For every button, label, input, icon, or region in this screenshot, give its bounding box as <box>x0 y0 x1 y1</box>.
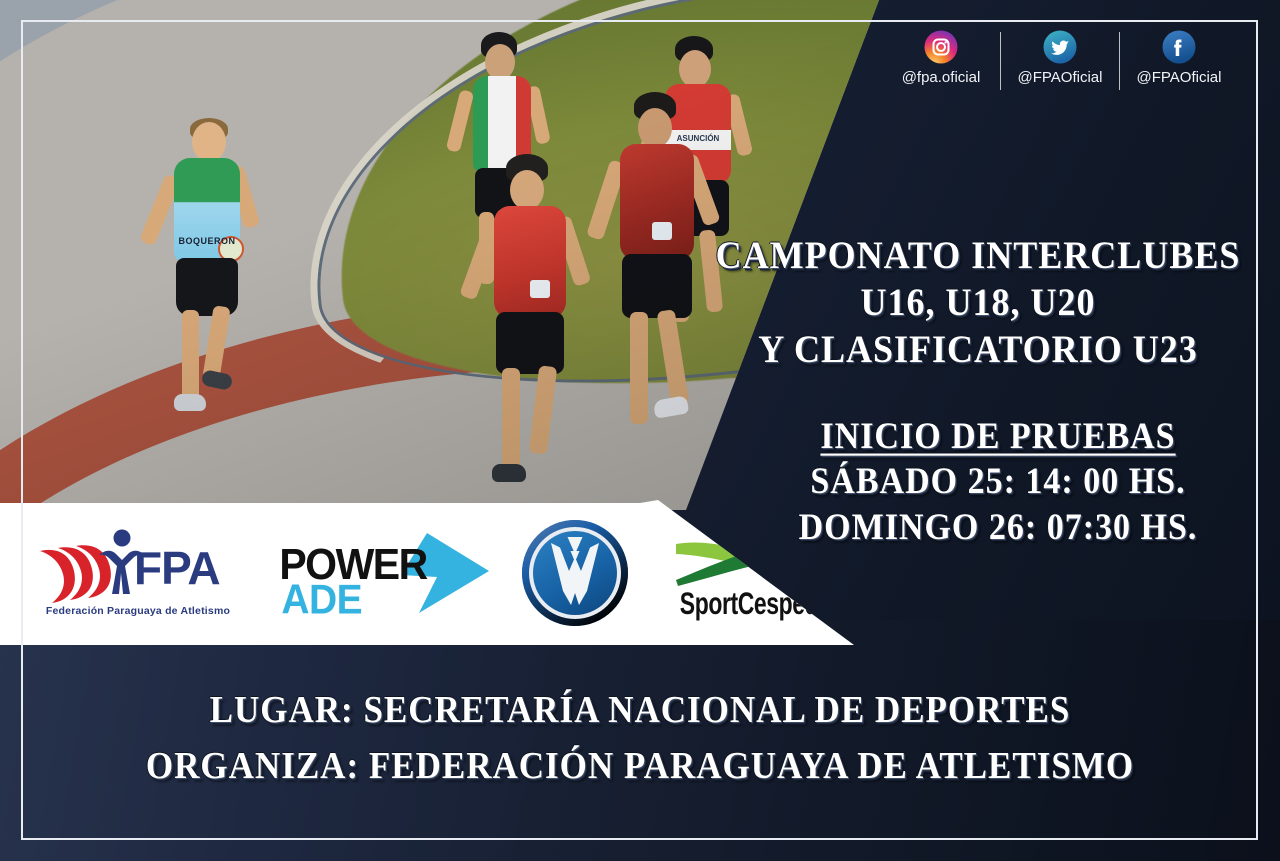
title-line-3: Y CLASIFICATORIO U23 <box>700 324 1256 376</box>
powerade-wordmark-bottom: ADE <box>281 577 362 624</box>
social-item-facebook[interactable]: @FPAOficial <box>1120 30 1238 86</box>
social-item-instagram[interactable]: @fpa.oficial <box>882 30 1000 86</box>
title-line-2: U16, U18, U20 <box>700 277 1256 329</box>
social-handle-facebook: @FPAOficial <box>1137 69 1222 86</box>
footer-info: LUGAR: SECRETARÍA NACIONAL DE DEPORTES O… <box>40 682 1240 794</box>
social-item-twitter[interactable]: @FPAOficial <box>1001 30 1119 86</box>
volkswagen-roundel-icon <box>521 519 629 627</box>
twitter-icon[interactable] <box>1043 30 1077 64</box>
schedule-sunday: DOMINGO 26: 07:30 HS. <box>740 503 1256 554</box>
title-line-1: CAMPONATO INTERCLUBES <box>700 230 1256 282</box>
fpa-logo: FPA Federación Paraguaya de Atletismo <box>30 521 244 625</box>
facebook-icon[interactable] <box>1162 30 1196 64</box>
social-handle-instagram: @fpa.oficial <box>902 69 981 86</box>
powerade-logo: POWER ADE <box>279 525 485 621</box>
schedule-block: INICIO DE PRUEBAS SÁBADO 25: 14: 00 HS. … <box>740 415 1256 551</box>
organizer-line: ORGANIZA: FEDERACIÓN PARAGUAYA DE ATLETI… <box>40 735 1240 797</box>
schedule-heading: INICIO DE PRUEBAS <box>740 413 1256 461</box>
event-title: CAMPONATO INTERCLUBES U16, U18, U20 Y CL… <box>700 232 1256 373</box>
fpa-wordmark: FPA <box>134 541 220 595</box>
social-handle-twitter: @FPAOficial <box>1018 69 1103 86</box>
venue-line: LUGAR: SECRETARÍA NACIONAL DE DEPORTES <box>40 679 1240 741</box>
instagram-icon[interactable] <box>924 30 958 64</box>
social-media-bar: @fpa.oficial @FPAOficial <box>866 30 1254 110</box>
schedule-saturday: SÁBADO 25: 14: 00 HS. <box>740 457 1256 508</box>
volkswagen-logo <box>521 519 629 627</box>
event-poster: ASUNCIÓN <box>0 0 1280 861</box>
fpa-tagline: Federación Paraguaya de Atletismo <box>32 605 244 617</box>
